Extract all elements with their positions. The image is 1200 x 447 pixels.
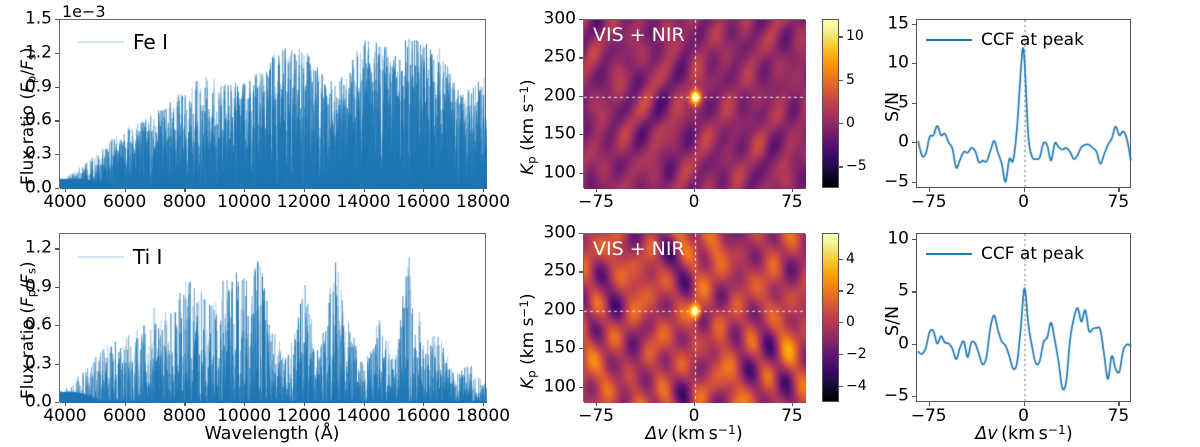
xtick-label-spec-top-6: 16000 — [396, 194, 450, 211]
ytick-mark-map-bot-3 — [579, 271, 583, 272]
xtick-label-spec-bot-5: 14000 — [337, 408, 391, 425]
ytick-mark-spec-bot-3 — [55, 287, 59, 288]
legend-spectrum-bottom[interactable]: Ti I — [78, 245, 162, 269]
ytick-label-spec-top-1: 0.3 — [25, 146, 52, 163]
xtick-label-ccf-top-1: 0 — [1018, 194, 1029, 211]
ytick-label-ccf-top-3: 10 — [887, 55, 909, 72]
ytick-mark-map-top-3 — [579, 57, 583, 58]
cbtick-label-bot-0: −4 — [846, 379, 867, 393]
xtick-label-map-bot-2: 75 — [781, 408, 803, 425]
cbtick-label-bot-4: 4 — [846, 252, 855, 266]
ytick-label-spec-top-2: 0.6 — [25, 112, 52, 129]
ytick-label-spec-bot-2: 0.6 — [25, 317, 52, 334]
colorbar-map-top — [822, 19, 839, 188]
legend-ccf-top[interactable]: CCF at peak — [926, 30, 1084, 50]
ytick-mark-map-top-0 — [579, 173, 583, 174]
xtick-label-ccf-top-2: 75 — [1108, 194, 1130, 211]
ytick-mark-spec-bot-4 — [55, 248, 59, 249]
ytick-label-spec-top-5: 1.5 — [25, 11, 52, 28]
ytick-mark-map-top-1 — [579, 134, 583, 135]
cbtick-mark-bot-3 — [839, 290, 843, 291]
ytick-mark-ccf-top-2 — [912, 103, 916, 104]
legend-spectrum-top[interactable]: Fe I — [78, 30, 168, 54]
cbtick-mark-top-2 — [839, 80, 843, 81]
xtick-label-spec-top-7: 18000 — [456, 194, 510, 211]
ytick-mark-spec-top-0 — [55, 188, 59, 189]
ytick-mark-spec-bot-1 — [55, 364, 59, 365]
xtick-label-map-bot-1: 0 — [689, 408, 700, 425]
xtick-label-map-top-1: 0 — [689, 194, 700, 211]
ylabel-map-bottom: Kp (km s−1) — [517, 293, 539, 389]
xtick-label-map-bot-0: −75 — [578, 408, 614, 425]
xtick-label-map-top-0: −75 — [578, 194, 614, 211]
ytick-mark-spec-top-3 — [55, 87, 59, 88]
ytick-label-map-bot-4: 300 — [544, 225, 576, 242]
ytick-mark-spec-top-1 — [55, 154, 59, 155]
ytick-mark-spec-top-4 — [55, 53, 59, 54]
ytick-mark-ccf-bot-3 — [912, 239, 916, 240]
cbtick-mark-bot-0 — [839, 386, 843, 387]
ytick-label-spec-bot-4: 1.2 — [25, 240, 52, 257]
xtick-label-spec-bot-1: 6000 — [103, 408, 146, 425]
ytick-label-ccf-top-4: 15 — [887, 15, 909, 32]
cbtick-label-top-1: 0 — [846, 116, 855, 130]
legend-ccf-bottom[interactable]: CCF at peak — [926, 244, 1084, 264]
xtick-label-spec-top-4: 12000 — [277, 194, 331, 211]
legend-label-fe1: Fe I — [133, 30, 168, 54]
colorbar-map-bottom — [822, 233, 839, 402]
panel-ccf-top: CCF at peak — [900, 0, 1200, 215]
ytick-mark-ccf-bot-1 — [912, 344, 916, 345]
legend-swatch-ccf-top — [926, 39, 972, 41]
ytick-label-spec-bot-3: 0.9 — [25, 278, 52, 295]
legend-swatch-ccf-bottom — [926, 253, 972, 255]
ytick-label-spec-top-4: 1.2 — [25, 44, 52, 61]
xtick-label-ccf-bot-0: −75 — [911, 408, 947, 425]
ytick-mark-map-bot-1 — [579, 348, 583, 349]
xlabel-map-bottom: Δv (km s−1) — [645, 423, 742, 444]
xlabel-ccf-bottom: Δv (km s−1) — [975, 423, 1072, 444]
cbtick-mark-top-0 — [839, 166, 843, 167]
map-annotation-bottom: VIS + NIR — [593, 238, 685, 260]
ytick-label-ccf-bot-0: −5 — [884, 387, 909, 404]
cbtick-mark-top-1 — [839, 123, 843, 124]
ytick-label-map-bot-0: 100 — [544, 378, 576, 395]
ytick-mark-ccf-top-1 — [912, 142, 916, 143]
cbtick-label-bot-2: 0 — [846, 315, 855, 329]
map-annotation-top: VIS + NIR — [593, 24, 685, 46]
cbtick-label-top-0: −5 — [846, 159, 867, 173]
xtick-label-spec-bot-7: 18000 — [456, 408, 510, 425]
ytick-label-map-top-1: 150 — [544, 126, 576, 143]
ytick-label-spec-bot-1: 0.3 — [25, 355, 52, 372]
ytick-mark-spec-top-5 — [55, 19, 59, 20]
ytick-label-map-top-2: 200 — [544, 87, 576, 104]
ytick-label-map-top-4: 300 — [544, 11, 576, 28]
xtick-label-ccf-top-0: −75 — [911, 194, 947, 211]
ytick-mark-spec-bot-2 — [55, 325, 59, 326]
legend-label-ti1: Ti I — [133, 245, 162, 269]
ytick-mark-ccf-top-4 — [912, 24, 916, 25]
xtick-label-spec-bot-2: 8000 — [163, 408, 206, 425]
xlabel-spectrum-bottom: Wavelength (Å) — [204, 424, 339, 444]
ytick-label-ccf-top-0: −5 — [884, 173, 909, 190]
ylabel-map-top: Kp (km s−1) — [517, 79, 539, 175]
xtick-label-spec-top-5: 14000 — [337, 194, 391, 211]
xtick-label-spec-top-3: 10000 — [217, 194, 271, 211]
ytick-label-map-bot-3: 250 — [544, 263, 576, 280]
ytick-label-map-bot-1: 150 — [544, 340, 576, 357]
xlabel-text-wavelength: Wavelength (Å) — [204, 424, 339, 444]
ytick-mark-map-bot-4 — [579, 233, 583, 234]
panel-spectrum-top: 1e−3 Fe I Flux ratio (Fp/Fs) — [0, 0, 500, 215]
ytick-label-spec-bot-0: 0.0 — [25, 394, 52, 411]
cbtick-mark-bot-2 — [839, 322, 843, 323]
ytick-mark-ccf-bot-2 — [912, 291, 916, 292]
panel-map-bottom: VIS + NIR Kp (km s−1) S/N Δv (km s−1) — [500, 215, 900, 447]
xtick-label-spec-top-1: 6000 — [103, 194, 146, 211]
ytick-mark-ccf-top-0 — [912, 182, 916, 183]
ytick-mark-map-bot-2 — [579, 310, 583, 311]
ytick-mark-spec-top-2 — [55, 120, 59, 121]
ytick-mark-map-top-4 — [579, 19, 583, 20]
xtick-label-ccf-bot-1: 0 — [1018, 408, 1029, 425]
ytick-mark-map-top-2 — [579, 96, 583, 97]
cbtick-mark-bot-4 — [839, 259, 843, 260]
ytick-label-ccf-bot-2: 5 — [898, 283, 909, 300]
ytick-label-ccf-bot-3: 10 — [887, 231, 909, 248]
panel-map-top: VIS + NIR Kp (km s−1) S/N — [500, 0, 900, 215]
cbtick-label-bot-3: 2 — [846, 283, 855, 297]
ytick-mark-map-bot-0 — [579, 387, 583, 388]
cbtick-label-top-2: 5 — [846, 73, 855, 87]
ytick-label-map-bot-2: 200 — [544, 301, 576, 318]
ytick-label-ccf-top-1: 0 — [898, 134, 909, 151]
cbtick-label-top-3: 10 — [846, 29, 864, 43]
ytick-label-map-top-0: 100 — [544, 164, 576, 181]
cbtick-label-bot-1: −2 — [846, 347, 867, 361]
xtick-label-ccf-bot-2: 75 — [1108, 408, 1130, 425]
xtick-label-spec-bot-4: 12000 — [277, 408, 331, 425]
ytick-label-map-top-3: 250 — [544, 49, 576, 66]
ytick-mark-ccf-top-3 — [912, 63, 916, 64]
xtick-label-spec-bot-3: 10000 — [217, 408, 271, 425]
ytick-mark-ccf-bot-0 — [912, 396, 916, 397]
cbtick-mark-top-3 — [839, 36, 843, 37]
ytick-label-spec-top-3: 0.9 — [25, 78, 52, 95]
legend-label-ccf-top: CCF at peak — [981, 30, 1084, 50]
figure-root: 1e−3 Fe I Flux ratio (Fp/Fs) Ti I Flux r… — [0, 0, 1200, 447]
xtick-label-spec-top-2: 8000 — [163, 194, 206, 211]
ytick-mark-spec-bot-0 — [55, 402, 59, 403]
ytick-label-ccf-bot-1: 0 — [898, 335, 909, 352]
legend-label-ccf-bottom: CCF at peak — [981, 244, 1084, 264]
cbtick-mark-bot-1 — [839, 354, 843, 355]
xtick-label-spec-bot-6: 16000 — [396, 408, 450, 425]
legend-swatch-ti1 — [78, 256, 124, 258]
legend-swatch-fe1 — [78, 41, 124, 43]
xtick-label-map-top-2: 75 — [781, 194, 803, 211]
ytick-label-spec-top-0: 0.0 — [25, 180, 52, 197]
ytick-label-ccf-top-2: 5 — [898, 94, 909, 111]
